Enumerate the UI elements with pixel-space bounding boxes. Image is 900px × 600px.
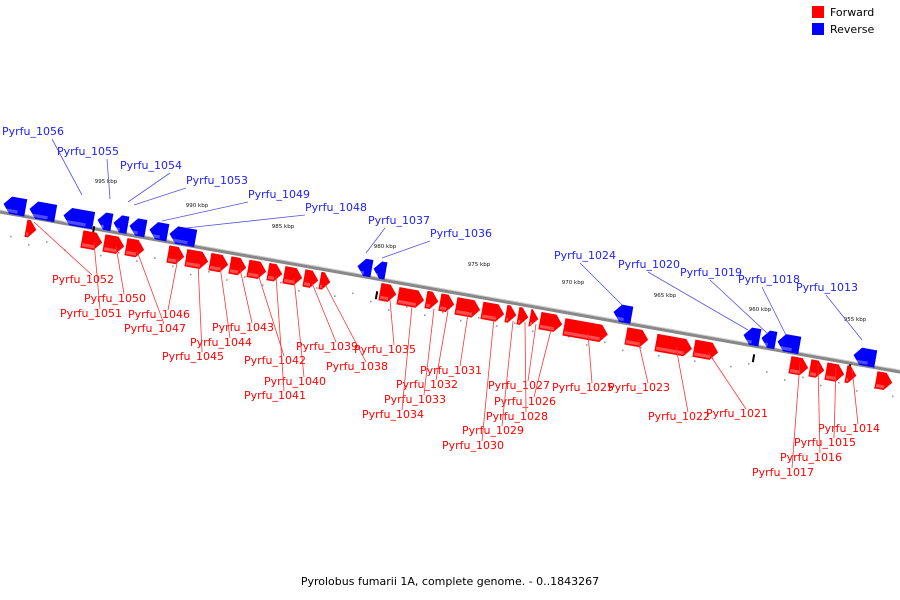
gene-label-Pyrfu_1050[interactable]: Pyrfu_1050: [84, 292, 146, 305]
gene-body: [439, 294, 456, 313]
minor-tick-mark: [334, 295, 336, 297]
gene-label-leader: [676, 347, 688, 412]
minor-tick-mark: [100, 255, 102, 257]
gene-label-Pyrfu_1027[interactable]: Pyrfu_1027: [488, 379, 550, 392]
gene-body: [655, 334, 693, 357]
gene-body: [62, 207, 95, 229]
minor-tick-mark: [388, 309, 390, 311]
minor-tick-mark: [28, 244, 30, 246]
gene-arrow-Pyrfu_1030[interactable]: [481, 302, 506, 323]
gene-label-Pyrfu_1038[interactable]: Pyrfu_1038: [326, 360, 388, 373]
gene-label-Pyrfu_1031[interactable]: Pyrfu_1031: [420, 364, 482, 377]
minor-tick-mark: [244, 276, 246, 278]
gene-body: [229, 257, 248, 277]
gene-label-Pyrfu_1033[interactable]: Pyrfu_1033: [384, 393, 446, 406]
gene-arrow-Pyrfu_1033[interactable]: [425, 291, 440, 310]
gene-label-Pyrfu_1015[interactable]: Pyrfu_1015: [794, 436, 856, 449]
gene-label-leader: [312, 283, 336, 342]
gene-arrow-Pyrfu_1014[interactable]: [845, 366, 858, 384]
minor-tick-mark: [10, 236, 12, 238]
gene-label-Pyrfu_1025[interactable]: Pyrfu_1025: [552, 381, 614, 394]
gene-label-Pyrfu_1018[interactable]: Pyrfu_1018: [738, 273, 800, 286]
minor-tick-mark: [802, 377, 804, 379]
gene-arrow-Pyrfu_1016[interactable]: [809, 360, 826, 379]
gene-arrow-Pyrfu_1040[interactable]: [283, 266, 304, 286]
minor-tick-mark: [460, 320, 462, 322]
genome-map-canvas: 995 kbp990 kbp985 kbp980 kbp975 kbp970 k…: [0, 0, 900, 600]
gene-body: [693, 340, 720, 361]
gene-body: [425, 291, 440, 310]
gene-body: [303, 270, 320, 289]
gene-label-Pyrfu_1017[interactable]: Pyrfu_1017: [752, 466, 814, 479]
minor-tick-mark: [748, 363, 750, 365]
gene-arrow-Pyrfu_1042[interactable]: [247, 260, 268, 280]
gene-label-Pyrfu_1036[interactable]: Pyrfu_1036: [430, 227, 492, 240]
scale-tick-mark: [375, 291, 378, 299]
minor-tick-mark: [172, 266, 174, 268]
gene-label-Pyrfu_1040[interactable]: Pyrfu_1040: [264, 375, 326, 388]
gene-label-Pyrfu_1020[interactable]: Pyrfu_1020: [618, 258, 680, 271]
gene-arrow-Pyrfu_1051[interactable]: [81, 231, 104, 251]
genome-caption: Pyrolobus fumarii 1A, complete genome. -…: [0, 575, 900, 588]
gene-label-Pyrfu_1054[interactable]: Pyrfu_1054: [120, 159, 182, 172]
gene-label-Pyrfu_1030[interactable]: Pyrfu_1030: [442, 439, 504, 452]
gene-arrow-Pyrfu_1035[interactable]: [379, 283, 398, 303]
scale-tick-label: 990 kbp: [186, 203, 209, 209]
gene-label-leader: [116, 246, 124, 294]
gene-arrow-Pyrfu_1028[interactable]: [517, 307, 530, 325]
legend-item-forward: Forward: [812, 5, 896, 19]
legend-label-forward: Forward: [830, 6, 874, 19]
gene-label-Pyrfu_1049[interactable]: Pyrfu_1049: [248, 188, 310, 201]
scale-tick-label: 975 kbp: [468, 262, 491, 268]
gene-label-Pyrfu_1029[interactable]: Pyrfu_1029: [462, 424, 524, 437]
scale-tick-label: 995 kbp: [95, 179, 118, 185]
minor-tick-mark: [532, 331, 534, 333]
gene-label-Pyrfu_1052[interactable]: Pyrfu_1052: [52, 273, 114, 286]
gene-arrow-Pyrfu_1023[interactable]: [625, 328, 650, 349]
gene-label-Pyrfu_1013[interactable]: Pyrfu_1013: [796, 281, 858, 294]
legend-swatch-reverse: [812, 23, 824, 35]
gene-arrow-Pyrfu_1047[interactable]: [125, 238, 146, 258]
gene-arrow-Pyrfu_1034[interactable]: [397, 287, 426, 308]
minor-tick-mark: [262, 285, 264, 287]
minor-tick-mark: [352, 293, 354, 295]
gene-arrow-Pyrfu_1025[interactable]: [563, 319, 609, 343]
gene-label-Pyrfu_1039[interactable]: Pyrfu_1039: [296, 340, 358, 353]
minor-tick-mark: [622, 350, 624, 352]
legend-item-reverse: Reverse: [812, 22, 896, 36]
gene-label-Pyrfu_1035[interactable]: Pyrfu_1035: [354, 343, 416, 356]
gene-label-Pyrfu_1053[interactable]: Pyrfu_1053: [186, 174, 248, 187]
gene-label-Pyrfu_1045[interactable]: Pyrfu_1045: [162, 350, 224, 363]
minor-tick-mark: [280, 282, 282, 284]
minor-tick-mark: [730, 366, 732, 368]
minor-tick-mark: [46, 241, 48, 243]
scale-tick-label: 960 kbp: [749, 307, 772, 313]
gene-arrow-Pyrfu_1044[interactable]: [209, 253, 230, 273]
minor-tick-mark: [658, 355, 660, 357]
gene-arrow-f-end[interactable]: [875, 371, 894, 391]
gene-arrow-Pyrfu_1052[interactable]: [25, 220, 38, 238]
gene-arrow-Pyrfu_1038[interactable]: [319, 272, 332, 290]
gene-body: [167, 246, 186, 266]
minor-tick-mark: [118, 252, 120, 254]
gene-label-leader: [460, 314, 468, 366]
gene-label-Pyrfu_1048[interactable]: Pyrfu_1048: [305, 201, 367, 214]
gene-label-Pyrfu_1023[interactable]: Pyrfu_1023: [608, 381, 670, 394]
minor-tick-mark: [766, 371, 768, 373]
gene-label-Pyrfu_1055[interactable]: Pyrfu_1055: [57, 145, 119, 158]
gene-label-Pyrfu_1024[interactable]: Pyrfu_1024: [554, 249, 616, 262]
gene-arrow-Pyrfu_1054[interactable]: [62, 207, 95, 229]
gene-label-Pyrfu_1047[interactable]: Pyrfu_1047: [124, 322, 186, 335]
gene-label-Pyrfu_1056[interactable]: Pyrfu_1056: [2, 125, 64, 138]
gene-label-leader: [258, 274, 284, 356]
gene-label-Pyrfu_1042[interactable]: Pyrfu_1042: [244, 354, 306, 367]
minor-tick-mark: [496, 325, 498, 327]
gene-label-Pyrfu_1014[interactable]: Pyrfu_1014: [818, 422, 880, 435]
gene-label-Pyrfu_1019[interactable]: Pyrfu_1019: [680, 266, 742, 279]
gene-arrow-Pyrfu_1041[interactable]: [267, 263, 284, 282]
minor-tick-mark: [226, 279, 228, 281]
gene-label-leader: [580, 263, 622, 305]
minor-tick-mark: [784, 379, 786, 381]
legend: Forward Reverse: [812, 5, 896, 39]
minor-tick-mark: [370, 301, 372, 303]
gene-label-leader: [34, 222, 92, 275]
gene-label-Pyrfu_1043[interactable]: Pyrfu_1043: [212, 321, 274, 334]
gene-arrow-Pyrfu_1039[interactable]: [303, 270, 320, 289]
gene-label-leader: [134, 188, 186, 205]
gene-arrow-Pyrfu_1050[interactable]: [103, 235, 126, 255]
scale-tick-label: 970 kbp: [562, 280, 585, 286]
gene-label-leader: [528, 324, 536, 381]
gene-label-Pyrfu_1041[interactable]: Pyrfu_1041: [244, 389, 306, 402]
gene-label-leader: [390, 300, 394, 345]
gene-arrow-Pyrfu_1027[interactable]: [529, 309, 540, 327]
gene-label-Pyrfu_1022[interactable]: Pyrfu_1022: [648, 410, 710, 423]
gene-label-leader: [708, 352, 746, 409]
gene-label-Pyrfu_1037[interactable]: Pyrfu_1037: [368, 214, 430, 227]
gene-arrow-Pyrfu_1032[interactable]: [439, 294, 456, 313]
scale-tick-mark: [752, 354, 755, 362]
minor-tick-mark: [514, 322, 516, 324]
minor-tick-mark: [820, 385, 822, 387]
genome-map-svg: 995 kbp990 kbp985 kbp980 kbp975 kbp970 k…: [0, 0, 900, 600]
scale-tick-label: 985 kbp: [272, 224, 295, 230]
scale-tick-label: 965 kbp: [654, 293, 677, 299]
gene-arrow-Pyrfu_1022[interactable]: [655, 334, 693, 357]
gene-label-Pyrfu_1051[interactable]: Pyrfu_1051: [60, 307, 122, 320]
gene-arrow-Pyrfu_1029[interactable]: [505, 305, 518, 323]
minor-tick-mark: [478, 317, 480, 319]
gene-body: [563, 319, 609, 343]
gene-body: [397, 287, 426, 308]
minor-tick-mark: [586, 344, 588, 346]
gene-body: [379, 283, 398, 303]
minor-tick-mark: [892, 396, 894, 398]
legend-swatch-forward: [812, 6, 824, 18]
gene-arrow-Pyrfu_1046[interactable]: [167, 246, 186, 266]
gene-arrow-Pyrfu_1021[interactable]: [693, 340, 720, 361]
gene-label-leader: [128, 173, 170, 202]
minor-tick-mark: [298, 290, 300, 292]
gene-arrow-Pyrfu_1043[interactable]: [229, 257, 248, 277]
minor-tick-mark: [838, 382, 840, 384]
minor-tick-mark: [316, 287, 318, 289]
gene-body: [875, 371, 894, 391]
gene-arrow-Pyrfu_1045[interactable]: [185, 249, 210, 270]
gene-body: [267, 263, 284, 282]
minor-tick-mark: [604, 341, 606, 343]
gene-label-Pyrfu_1016[interactable]: Pyrfu_1016: [780, 451, 842, 464]
minor-tick-mark: [442, 312, 444, 314]
minor-tick-mark: [190, 274, 192, 276]
gene-label-leader: [638, 340, 648, 383]
gene-label-Pyrfu_1034[interactable]: Pyrfu_1034: [362, 408, 424, 421]
minor-tick-mark: [406, 306, 408, 308]
gene-label-Pyrfu_1026[interactable]: Pyrfu_1026: [494, 395, 556, 408]
minor-tick-mark: [154, 257, 156, 259]
minor-tick-mark: [208, 271, 210, 273]
legend-label-reverse: Reverse: [830, 23, 874, 36]
gene-label-Pyrfu_1032[interactable]: Pyrfu_1032: [396, 378, 458, 391]
minor-tick-mark: [694, 360, 696, 362]
minor-tick-mark: [856, 390, 858, 392]
scale-tick-label: 980 kbp: [374, 244, 397, 250]
gene-arrow-Pyrfu_1015[interactable]: [825, 363, 846, 383]
minor-tick-mark: [136, 260, 138, 262]
gene-label-Pyrfu_1044[interactable]: Pyrfu_1044: [190, 336, 252, 349]
gene-label-Pyrfu_1021[interactable]: Pyrfu_1021: [706, 407, 768, 420]
minor-tick-mark: [424, 314, 426, 316]
gene-label-Pyrfu_1028[interactable]: Pyrfu_1028: [486, 410, 548, 423]
gene-body: [809, 360, 826, 379]
